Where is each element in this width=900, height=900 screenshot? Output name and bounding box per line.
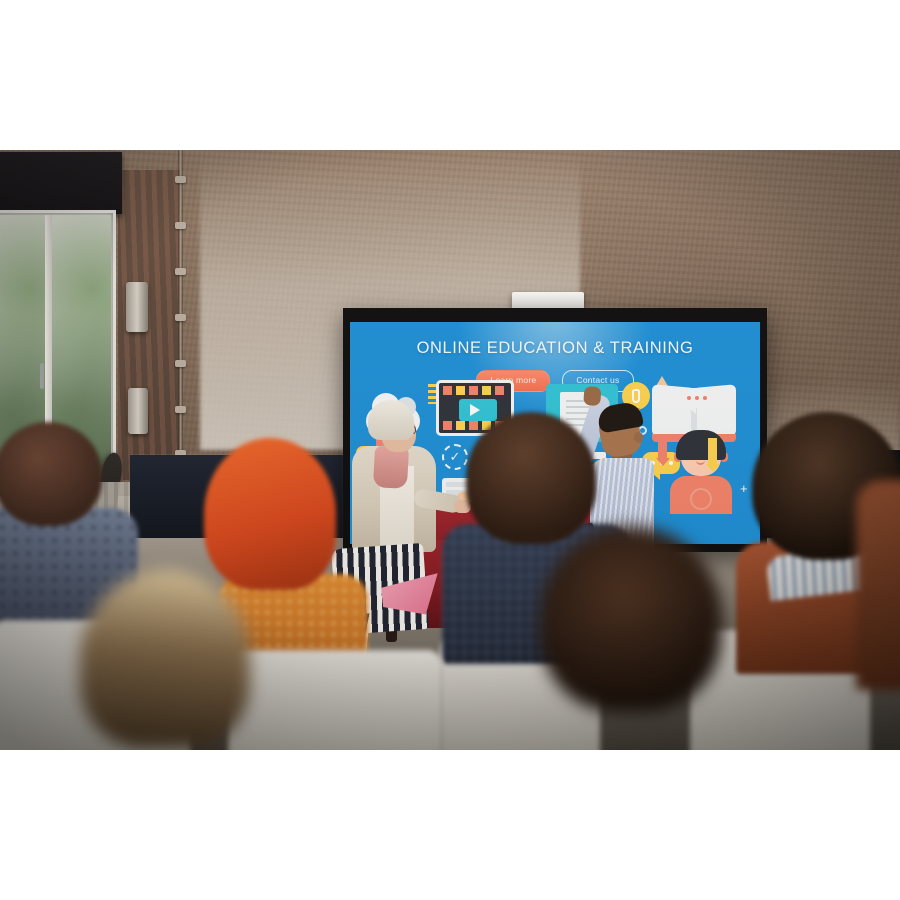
- audience-member-7: [856, 480, 900, 680]
- learner-avatar-icon: [668, 430, 734, 514]
- window-handle[interactable]: [40, 363, 44, 389]
- presenter-pointing-hand: [583, 386, 601, 406]
- wall-conduit: [178, 150, 183, 480]
- window-blind: [0, 152, 122, 214]
- audience-member-3: [60, 570, 270, 750]
- page-root: ONLINE EDUCATION & TRAINING Learn more C…: [0, 0, 900, 900]
- atom-icon: [690, 488, 712, 510]
- pink-scarf: [373, 445, 409, 489]
- scene-photo: ONLINE EDUCATION & TRAINING Learn more C…: [0, 150, 900, 750]
- pipe-stub-upper: [126, 282, 148, 332]
- slide-heading: ONLINE EDUCATION & TRAINING: [350, 339, 760, 358]
- audience-member-5: [540, 526, 730, 726]
- knowledge-arrow-icon: [708, 438, 717, 472]
- chat-bubble-white-icon: [680, 388, 714, 408]
